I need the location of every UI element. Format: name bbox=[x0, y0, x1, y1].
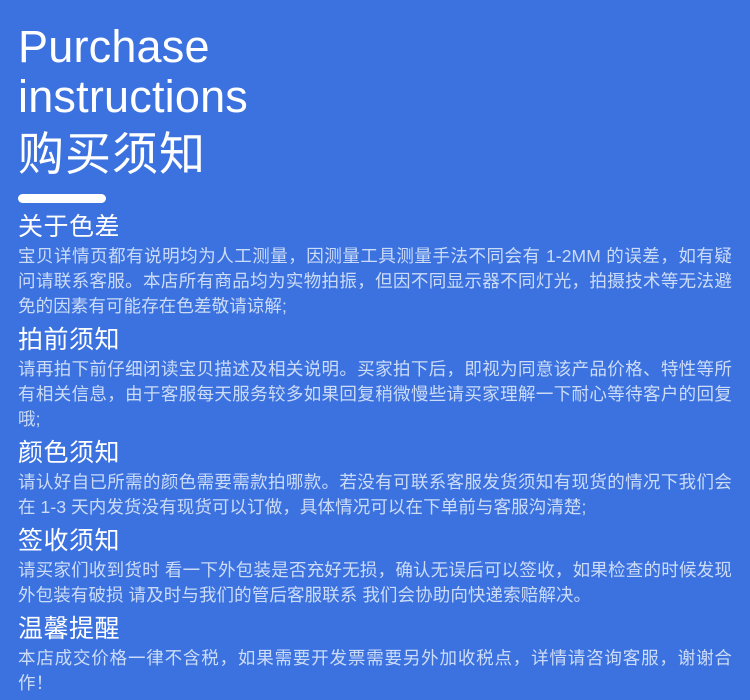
purchase-instructions-page: Purchase instructions 购买须知 关于色差 宝贝详情页都有说… bbox=[0, 0, 750, 700]
section-warm-reminder: 温馨提醒 本店成交价格一律不含税，如果需要开发票需要另外加收税点，详情请咨询客服… bbox=[18, 614, 732, 696]
section-body: 请认好自已所需的颜色需要需款拍哪款。若没有可联系客服发货须知有现货的情况下我们会… bbox=[18, 470, 732, 520]
section-heading: 颜色须知 bbox=[18, 438, 732, 469]
page-title-english: Purchase instructions bbox=[18, 22, 732, 122]
section-color-difference: 关于色差 宝贝详情页都有说明均为人工测量，因测量工具测量手法不同会有 1-2MM… bbox=[18, 212, 732, 319]
section-heading: 签收须知 bbox=[18, 526, 732, 557]
section-receipt: 签收须知 请买家们收到货时 看一下外包装是否充好无损，确认无误后可以签收，如果检… bbox=[18, 526, 732, 608]
section-heading: 温馨提醒 bbox=[18, 614, 732, 645]
section-body: 请再拍下前仔细闭读宝贝描述及相关说明。买家拍下后，即视为同意该产品价格、特性等所… bbox=[18, 357, 732, 432]
section-body: 宝贝详情页都有说明均为人工测量，因测量工具测量手法不同会有 1-2MM 的误差，… bbox=[18, 244, 732, 319]
section-body: 请买家们收到货时 看一下外包装是否充好无损，确认无误后可以签收，如果检查的时候发… bbox=[18, 558, 732, 608]
section-body: 本店成交价格一律不含税，如果需要开发票需要另外加收税点，详情请咨询客服，谢谢合作… bbox=[18, 646, 732, 696]
title-divider-bar bbox=[18, 194, 106, 203]
section-heading: 拍前须知 bbox=[18, 325, 732, 356]
page-title-chinese: 购买须知 bbox=[18, 126, 732, 182]
instruction-sections: 关于色差 宝贝详情页都有说明均为人工测量，因测量工具测量手法不同会有 1-2MM… bbox=[18, 212, 732, 696]
masthead: Purchase instructions 购买须知 bbox=[18, 0, 732, 182]
section-color-selection: 颜色须知 请认好自已所需的颜色需要需款拍哪款。若没有可联系客服发货须知有现货的情… bbox=[18, 438, 732, 520]
section-before-order: 拍前须知 请再拍下前仔细闭读宝贝描述及相关说明。买家拍下后，即视为同意该产品价格… bbox=[18, 325, 732, 432]
section-heading: 关于色差 bbox=[18, 212, 732, 243]
